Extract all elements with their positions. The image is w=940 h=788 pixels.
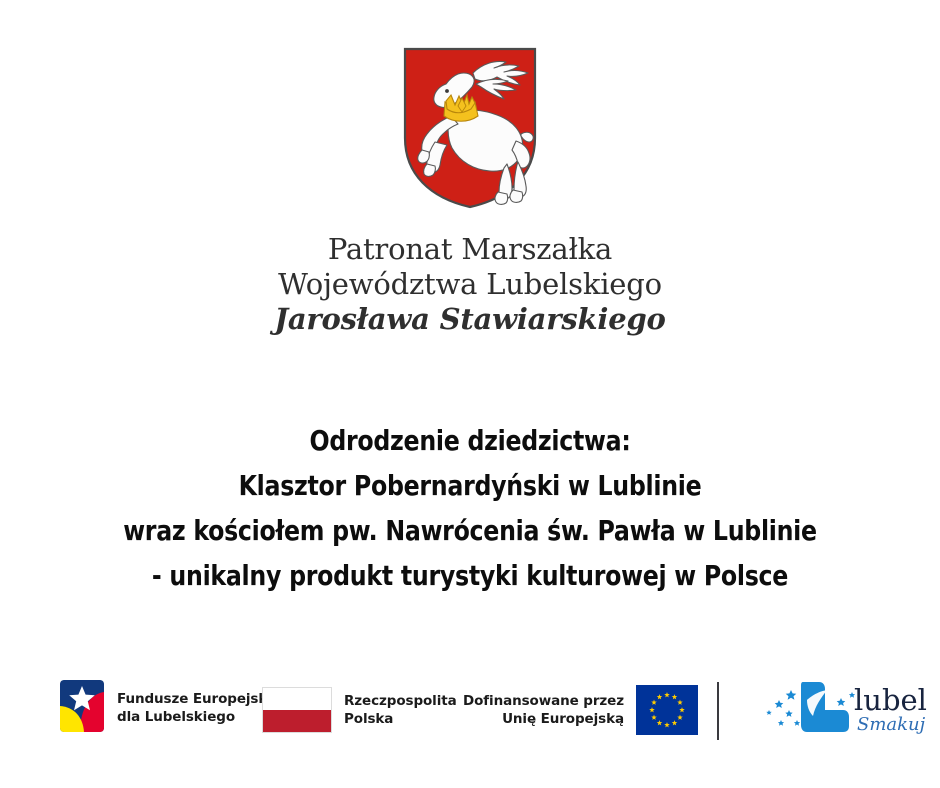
title-line-1: Odrodzenie dziedzictwa: [28,418,912,463]
rp-label-line-2: Polska [344,710,457,728]
footer-divider [717,682,719,740]
footer-logo-strip: Fundusze Europejskie dla Lubelskiego Rze… [0,668,940,764]
lubelskie-wordmark: lubelskie [854,683,927,717]
eu-label: Dofinansowane przez Unię Europejską [463,692,624,728]
coat-of-arms-block [0,46,940,210]
eu-flag-icon [636,685,698,735]
title-line-2: Klasztor Pobernardyński w Lublinie [28,463,912,508]
logo-fundusze-europejskie: Fundusze Europejskie dla Lubelskiego [58,676,281,740]
fe-label-line-1: Fundusze Europejskie [117,690,281,708]
poster-canvas: Patronat Marszałka Województwa Lubelskie… [0,0,940,788]
patronage-marshal-name: Jarosława Stawiarskiego [0,302,940,337]
eu-label-line-1: Dofinansowane przez [463,692,624,710]
logo-unia-europejska: Dofinansowane przez Unię Europejską [463,685,698,735]
fe-label: Fundusze Europejskie dla Lubelskiego [117,690,281,726]
deer-eye [445,89,449,93]
lublin-coat-of-arms-icon [402,46,538,210]
title-line-3: wraz kościołem pw. Nawrócenia św. Pawła … [28,508,912,553]
page-title: Odrodzenie dziedzictwa: Klasztor Poberna… [0,418,940,598]
rp-label-line-1: Rzeczpospolita [344,692,457,710]
lubelskie-logo-icon: lubelskie Smakuj życie! [757,676,927,740]
polish-flag-icon [262,687,332,733]
eu-label-line-2: Unię Europejską [463,710,624,728]
patronage-line-2: Województwa Lubelskiego [0,267,940,302]
logo-lubelskie: lubelskie Smakuj życie! [757,676,927,740]
title-line-4: - unikalny produkt turystyki kulturowej … [28,553,912,598]
patronage-line-1: Patronat Marszałka [0,232,940,267]
polish-flag-red-band [263,710,331,732]
fe-label-line-2: dla Lubelskiego [117,708,281,726]
logo-rzeczpospolita-polska: Rzeczpospolita Polska [262,687,457,733]
rp-label: Rzeczpospolita Polska [344,692,457,728]
patronage-caption: Patronat Marszałka Województwa Lubelskie… [0,232,940,337]
fundusze-europejskie-logo-icon [58,676,106,740]
lubelskie-tagline: Smakuj życie! [857,714,927,735]
